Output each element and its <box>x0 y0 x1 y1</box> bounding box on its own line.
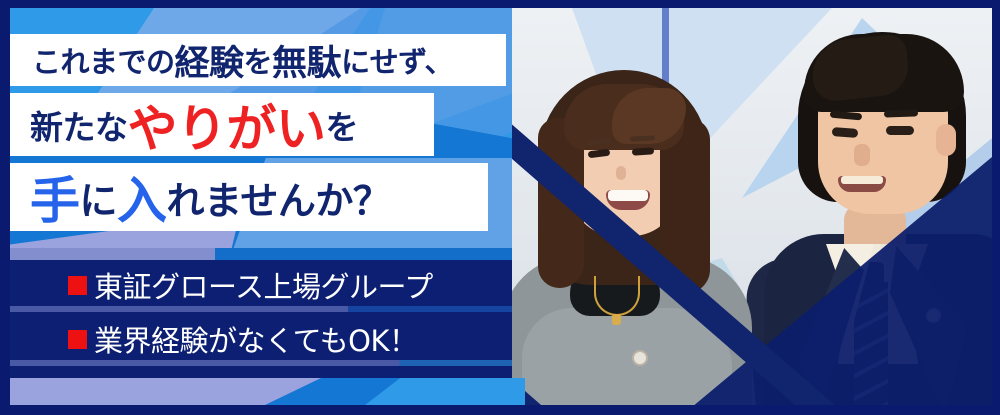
female-necklace-pendant <box>612 314 621 325</box>
headline-1-seg-4: 無駄 <box>272 35 341 86</box>
headline-line-1: これまでの 経験 を 無駄 にせず、 <box>10 34 506 86</box>
bullet-divider-2 <box>0 306 512 312</box>
headline-2-seg-2-highlight: やりがい <box>128 89 326 161</box>
frame-border-top <box>0 0 1000 8</box>
male-eye-right <box>886 126 914 135</box>
square-bullet-icon <box>68 276 87 295</box>
list-item: 業界経験がなくてもOK！ <box>68 318 418 360</box>
headline-1-seg-5: にせず、 <box>341 39 453 81</box>
recruitment-banner: これまでの 経験 を 無駄 にせず、 新たな やりがい を 手 に 入 れません… <box>0 0 1000 415</box>
left-text-panel: これまでの 経験 を 無駄 にせず、 新たな やりがい を 手 に 入 れません… <box>0 0 512 415</box>
headline-2-seg-3: を <box>326 101 359 149</box>
female-jacket-button <box>632 350 648 366</box>
headline-1-seg-2: 経験 <box>175 35 244 86</box>
frame-border-left <box>0 0 10 415</box>
bullet-divider-1 <box>0 248 512 260</box>
employee-photo <box>512 8 992 407</box>
headline-1-seg-3: を <box>244 39 273 81</box>
female-teeth <box>608 190 648 201</box>
list-item: 東証グロース上場グループ <box>68 264 433 306</box>
bullet-label-1: 東証グロース上場グループ <box>94 264 433 306</box>
male-nose <box>854 144 870 166</box>
headline-3-seg-3-highlight: 入 <box>117 161 167 233</box>
headline-3-seg-4: れませんか？ <box>167 170 391 225</box>
headline-3-seg-2: に <box>80 170 118 225</box>
strip-segment-1 <box>10 378 270 405</box>
bullet-label-2: 業界経験がなくてもOK！ <box>94 318 418 360</box>
frame-border-right <box>992 0 1000 415</box>
male-eye-left <box>832 127 859 138</box>
headline-3-seg-1-highlight: 手 <box>30 161 80 233</box>
frame-border-bottom <box>0 405 1000 415</box>
female-nose <box>616 166 626 180</box>
male-eyebrow-right <box>884 109 918 117</box>
male-teeth <box>841 176 883 184</box>
square-bullet-icon <box>68 330 87 349</box>
male-mouth <box>838 176 886 192</box>
bottom-accent-strip <box>10 378 1000 405</box>
headline-line-3: 手 に 入 れませんか？ <box>10 163 488 231</box>
headline-1-seg-1: これまでの <box>32 39 175 81</box>
bullet-divider-3 <box>0 360 512 366</box>
male-ear <box>936 124 956 156</box>
male-lapel-pin <box>926 308 941 323</box>
headline-line-2: 新たな やりがい を <box>10 93 434 156</box>
headline-2-seg-1: 新たな <box>30 101 128 149</box>
female-mouth <box>606 190 650 210</box>
